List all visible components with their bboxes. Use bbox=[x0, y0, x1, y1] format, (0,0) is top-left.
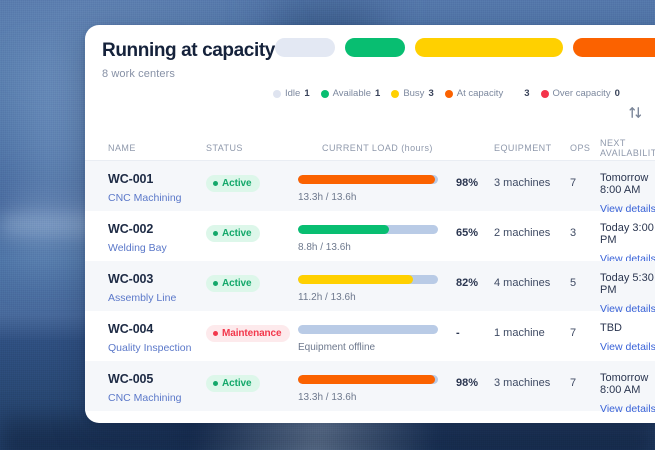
view-details-link[interactable]: View details → bbox=[600, 341, 655, 353]
table-row[interactable]: WC-004Quality InspectionMaintenanceEquip… bbox=[85, 311, 655, 361]
work-center-type[interactable]: Welding Bay bbox=[108, 242, 206, 254]
cell-status: Active bbox=[206, 372, 298, 392]
col-header-equipment: EQUIPMENT bbox=[494, 142, 570, 153]
equipment-count: 4 machines bbox=[494, 277, 550, 289]
legend-item-at-capacity: At capacity3 bbox=[445, 88, 530, 99]
page-subtitle: 8 work centers bbox=[102, 68, 655, 80]
cell-name: WC-003Assembly Line bbox=[108, 272, 206, 304]
load-progress-bar bbox=[298, 225, 438, 234]
legend-dot-icon bbox=[391, 90, 399, 98]
ops-count: 7 bbox=[570, 377, 576, 389]
legend-item-idle: Idle1 bbox=[273, 88, 310, 99]
status-label: Active bbox=[222, 378, 251, 389]
capacity-pill-at-capacity bbox=[573, 38, 655, 57]
table-row[interactable]: WC-005CNC MachiningActive13.3h / 13.6h98… bbox=[85, 361, 655, 411]
status-dot-icon bbox=[213, 281, 218, 286]
equipment-count: 3 machines bbox=[494, 177, 550, 189]
screenshot-root: Running at capacity 8 work centers Idle1… bbox=[0, 0, 655, 450]
table-toolbar bbox=[627, 104, 655, 120]
work-center-id: WC-003 bbox=[108, 272, 206, 286]
table-body: WC-001CNC MachiningActive13.3h / 13.6h98… bbox=[85, 161, 655, 411]
legend-label: Available bbox=[333, 88, 371, 99]
col-header-ops: OPS bbox=[570, 142, 600, 153]
legend-label: Over capacity bbox=[553, 88, 611, 99]
ops-count: 3 bbox=[570, 227, 576, 239]
equipment-count: 3 machines bbox=[494, 377, 550, 389]
col-header-availability: NEXT AVAILABILITY bbox=[600, 138, 655, 158]
load-hours-label: 11.2h / 13.6h bbox=[298, 292, 450, 303]
cell-availability: Today 5:30 PMView details → bbox=[600, 272, 655, 315]
card-header: Running at capacity 8 work centers Idle1… bbox=[85, 25, 655, 87]
work-centers-card: Running at capacity 8 work centers Idle1… bbox=[85, 25, 655, 423]
cell-name: WC-001CNC Machining bbox=[108, 172, 206, 204]
cell-percent: 65% bbox=[450, 222, 494, 241]
status-badge: Maintenance bbox=[206, 325, 290, 342]
cell-percent: 82% bbox=[450, 272, 494, 291]
legend-count: 3 bbox=[524, 88, 529, 99]
equipment-count: 2 machines bbox=[494, 227, 550, 239]
work-centers-table: NAME STATUS CURRENT LOAD (hours) EQUIPME… bbox=[85, 135, 655, 411]
work-center-type[interactable]: CNC Machining bbox=[108, 192, 206, 204]
legend-dot-icon bbox=[273, 90, 281, 98]
load-hours-label: 13.3h / 13.6h bbox=[298, 192, 450, 203]
work-center-type[interactable]: Quality Inspection bbox=[108, 342, 206, 354]
work-center-type[interactable]: CNC Machining bbox=[108, 392, 206, 404]
ops-count: 5 bbox=[570, 277, 576, 289]
next-availability: TBD bbox=[600, 322, 655, 334]
load-progress-bar bbox=[298, 325, 438, 334]
cell-name: WC-004Quality Inspection bbox=[108, 322, 206, 354]
cell-status: Active bbox=[206, 172, 298, 192]
status-dot-icon bbox=[213, 181, 218, 186]
legend-label: At capacity bbox=[457, 88, 503, 99]
load-percent: 82% bbox=[456, 277, 478, 289]
cell-name: WC-005CNC Machining bbox=[108, 372, 206, 404]
next-availability: Tomorrow 8:00 AM bbox=[600, 372, 655, 396]
cell-ops: 5 bbox=[570, 272, 600, 291]
col-header-name: NAME bbox=[108, 143, 206, 153]
cell-availability: TBDView details → bbox=[600, 322, 655, 353]
status-legend: Idle1Available1Busy3At capacity3Over cap… bbox=[273, 88, 627, 99]
load-percent: - bbox=[456, 327, 460, 339]
capacity-pill-row bbox=[275, 38, 655, 57]
status-badge: Active bbox=[206, 375, 260, 392]
cell-status: Active bbox=[206, 272, 298, 292]
table-row[interactable]: WC-002Welding BayActive8.8h / 13.6h65%2 … bbox=[85, 211, 655, 261]
table-header-row: NAME STATUS CURRENT LOAD (hours) EQUIPME… bbox=[85, 135, 655, 161]
cell-load: 11.2h / 13.6h bbox=[298, 272, 450, 303]
legend-label: Busy bbox=[403, 88, 424, 99]
work-center-id: WC-001 bbox=[108, 172, 206, 186]
view-details-link[interactable]: View details → bbox=[600, 403, 655, 415]
cell-availability: Tomorrow 8:00 AMView details → bbox=[600, 372, 655, 415]
cell-ops: 3 bbox=[570, 222, 600, 241]
cell-availability: Tomorrow 8:00 AMView details → bbox=[600, 172, 655, 215]
legend-dot-icon bbox=[541, 90, 549, 98]
legend-item-busy: Busy3 bbox=[391, 88, 433, 99]
table-row[interactable]: WC-001CNC MachiningActive13.3h / 13.6h98… bbox=[85, 161, 655, 211]
legend-dot-icon bbox=[321, 90, 329, 98]
cell-ops: 7 bbox=[570, 322, 600, 341]
capacity-pill-idle bbox=[275, 38, 335, 57]
capacity-pill-available bbox=[345, 38, 405, 57]
status-dot-icon bbox=[213, 381, 218, 386]
cell-status: Maintenance bbox=[206, 322, 298, 342]
next-availability: Tomorrow 8:00 AM bbox=[600, 172, 655, 196]
legend-count: 1 bbox=[304, 88, 309, 99]
load-progress-bar bbox=[298, 175, 438, 184]
col-header-pct bbox=[450, 147, 494, 148]
work-center-id: WC-002 bbox=[108, 222, 206, 236]
cell-ops: 7 bbox=[570, 172, 600, 191]
sort-arrows-icon[interactable] bbox=[627, 104, 643, 120]
status-label: Maintenance bbox=[222, 328, 281, 339]
load-progress-fill bbox=[298, 375, 435, 384]
ops-count: 7 bbox=[570, 177, 576, 189]
ops-count: 7 bbox=[570, 327, 576, 339]
cell-status: Active bbox=[206, 222, 298, 242]
cell-percent: - bbox=[450, 322, 494, 341]
capacity-pill-busy bbox=[415, 38, 563, 57]
load-progress-fill bbox=[298, 225, 389, 234]
load-percent: 65% bbox=[456, 227, 478, 239]
status-dot-icon bbox=[213, 331, 218, 336]
table-row[interactable]: WC-003Assembly LineActive11.2h / 13.6h82… bbox=[85, 261, 655, 311]
work-center-id: WC-004 bbox=[108, 322, 206, 336]
next-availability: Today 5:30 PM bbox=[600, 272, 655, 296]
col-header-status: STATUS bbox=[206, 142, 298, 153]
status-label: Active bbox=[222, 178, 251, 189]
next-availability: Today 3:00 PM bbox=[600, 222, 655, 246]
load-progress-bar bbox=[298, 375, 438, 384]
load-hours-label: Equipment offline bbox=[298, 342, 450, 353]
cell-availability: Today 3:00 PMView details → bbox=[600, 222, 655, 265]
status-badge: Active bbox=[206, 225, 260, 242]
load-percent: 98% bbox=[456, 377, 478, 389]
cell-load: Equipment offline bbox=[298, 322, 450, 353]
status-badge: Active bbox=[206, 275, 260, 292]
cell-load: 8.8h / 13.6h bbox=[298, 222, 450, 253]
legend-count: 3 bbox=[428, 88, 433, 99]
cell-load: 13.3h / 13.6h bbox=[298, 372, 450, 403]
legend-count: 0 bbox=[615, 88, 620, 99]
load-progress-bar bbox=[298, 275, 438, 284]
cell-equipment: 3 machines bbox=[494, 372, 570, 391]
equipment-count: 1 machine bbox=[494, 327, 545, 339]
cell-percent: 98% bbox=[450, 172, 494, 191]
cell-equipment: 2 machines bbox=[494, 222, 570, 241]
load-hours-label: 8.8h / 13.6h bbox=[298, 242, 450, 253]
legend-label: Idle bbox=[285, 88, 300, 99]
load-percent: 98% bbox=[456, 177, 478, 189]
legend-dot-icon bbox=[445, 90, 453, 98]
legend-item-available: Available1 bbox=[321, 88, 381, 99]
legend-count: 1 bbox=[375, 88, 380, 99]
status-badge: Active bbox=[206, 175, 260, 192]
cell-equipment: 1 machine bbox=[494, 322, 570, 341]
load-progress-fill bbox=[298, 275, 413, 284]
legend-item-over-capacity: Over capacity0 bbox=[541, 88, 620, 99]
status-label: Active bbox=[222, 228, 251, 239]
cell-name: WC-002Welding Bay bbox=[108, 222, 206, 254]
load-hours-label: 13.3h / 13.6h bbox=[298, 392, 450, 403]
col-header-load: CURRENT LOAD (hours) bbox=[298, 143, 450, 153]
cell-percent: 98% bbox=[450, 372, 494, 391]
cell-equipment: 3 machines bbox=[494, 172, 570, 191]
work-center-id: WC-005 bbox=[108, 372, 206, 386]
status-label: Active bbox=[222, 278, 251, 289]
work-center-type[interactable]: Assembly Line bbox=[108, 292, 206, 304]
load-progress-fill bbox=[298, 175, 435, 184]
cell-load: 13.3h / 13.6h bbox=[298, 172, 450, 203]
cell-equipment: 4 machines bbox=[494, 272, 570, 291]
status-dot-icon bbox=[213, 231, 218, 236]
cell-ops: 7 bbox=[570, 372, 600, 391]
